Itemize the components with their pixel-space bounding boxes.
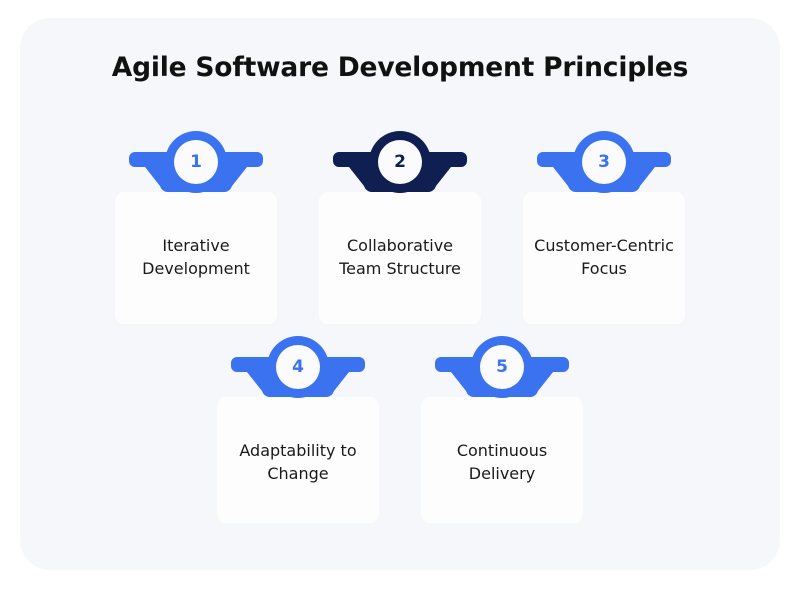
- number-badge-3: 3: [573, 131, 635, 193]
- principle-item-2[interactable]: 2Collaborative Team Structure: [319, 131, 481, 324]
- principle-label-1: Iterative Development: [125, 234, 267, 280]
- number-badge-value-2: 2: [378, 140, 422, 184]
- number-badge-1: 1: [165, 131, 227, 193]
- principle-header-2: 2: [319, 131, 481, 192]
- principle-header-1: 1: [115, 131, 277, 192]
- principle-item-1[interactable]: 1Iterative Development: [115, 131, 277, 324]
- number-badge-5: 5: [471, 336, 533, 398]
- principle-item-5[interactable]: 5Continuous Delivery: [421, 336, 583, 523]
- principle-header-4: 4: [217, 336, 379, 397]
- principles-row-2: 4Adaptability to Change5Continuous Deliv…: [0, 336, 800, 523]
- principle-label-2: Collaborative Team Structure: [329, 234, 471, 280]
- principle-card-5[interactable]: Continuous Delivery: [421, 397, 583, 523]
- number-badge-value-1: 1: [174, 140, 218, 184]
- principles-row-1: 1Iterative Development2Collaborative Tea…: [0, 131, 800, 324]
- principle-header-5: 5: [421, 336, 583, 397]
- number-badge-2: 2: [369, 131, 431, 193]
- principle-item-4[interactable]: 4Adaptability to Change: [217, 336, 379, 523]
- number-badge-value-3: 3: [582, 140, 626, 184]
- principle-card-3[interactable]: Customer-Centric Focus: [523, 192, 685, 324]
- principle-card-1[interactable]: Iterative Development: [115, 192, 277, 324]
- principle-card-2[interactable]: Collaborative Team Structure: [319, 192, 481, 324]
- principle-label-4: Adaptability to Change: [227, 439, 369, 485]
- number-badge-4: 4: [267, 336, 329, 398]
- principle-header-3: 3: [523, 131, 685, 192]
- number-badge-value-5: 5: [480, 345, 524, 389]
- principle-item-3[interactable]: 3Customer-Centric Focus: [523, 131, 685, 324]
- principle-label-5: Continuous Delivery: [431, 439, 573, 485]
- number-badge-value-4: 4: [276, 345, 320, 389]
- principle-card-4[interactable]: Adaptability to Change: [217, 397, 379, 523]
- infographic-root: Agile Software Development Principles 1I…: [0, 0, 800, 589]
- principle-label-3: Customer-Centric Focus: [533, 234, 675, 280]
- page-title: Agile Software Development Principles: [0, 52, 800, 84]
